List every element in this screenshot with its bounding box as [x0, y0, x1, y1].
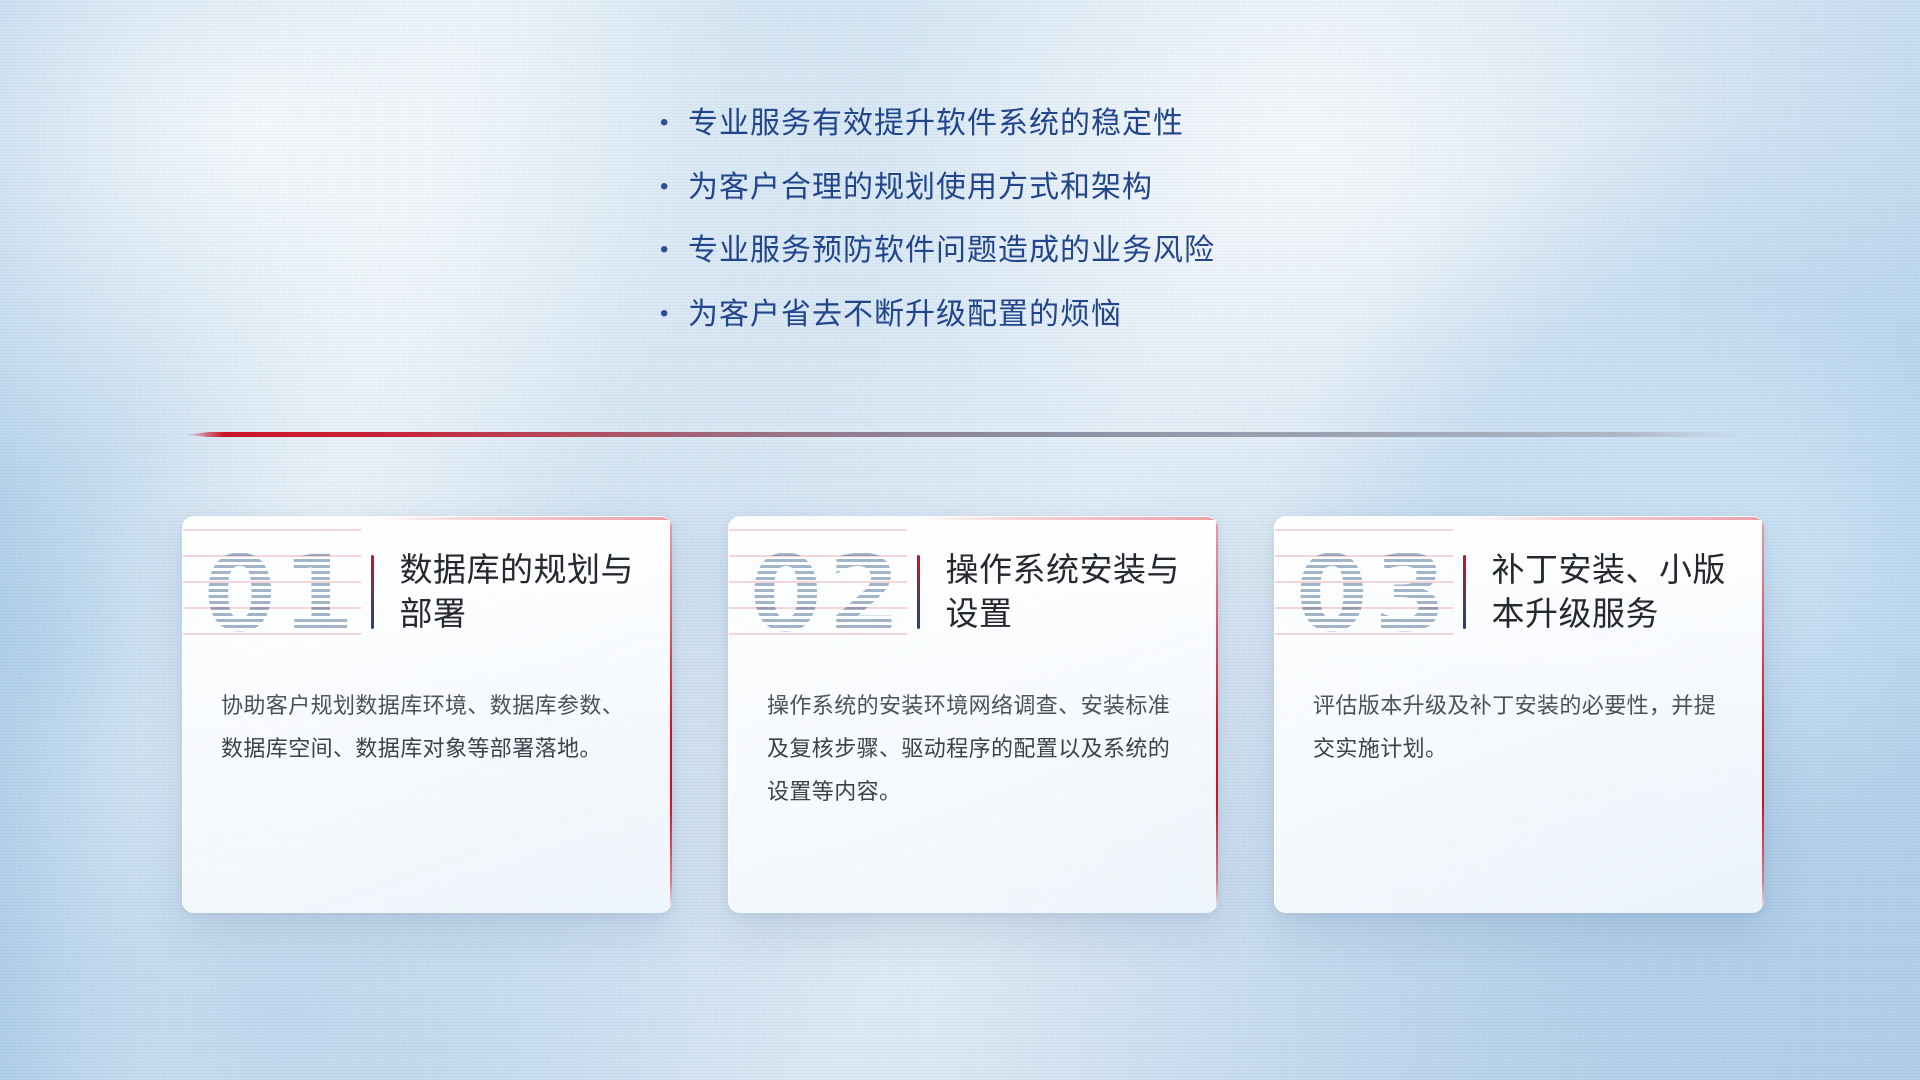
service-card[interactable]: 01 数据库的规划与部署 协助客户规划数据库环境、数据库参数、数据库空间、数据库… [182, 516, 672, 913]
card-body-text: 协助客户规划数据库环境、数据库参数、数据库空间、数据库对象等部署落地。 [183, 667, 672, 771]
divider-sheen [185, 428, 1741, 442]
service-card-group: 01 数据库的规划与部署 协助客户规划数据库环境、数据库参数、数据库空间、数据库… [182, 516, 1764, 913]
bullet-marker-icon: • [660, 111, 688, 135]
card-divider-bar [371, 555, 374, 629]
bullet-item: • 为客户合理的规划使用方式和架构 [660, 169, 1215, 207]
card-title: 操作系统安装与设置 [946, 548, 1219, 635]
card-title: 数据库的规划与部署 [400, 548, 673, 635]
bullet-item-text: 为客户省去不断升级配置的烦恼 [688, 296, 1122, 334]
section-divider [185, 428, 1741, 444]
slide-root: • 专业服务有效提升软件系统的稳定性 • 为客户合理的规划使用方式和架构 • 专… [0, 0, 1920, 1080]
bullet-item-text: 专业服务预防软件问题造成的业务风险 [688, 232, 1215, 270]
card-body-text: 评估版本升级及补丁安装的必要性，并提交实施计划。 [1275, 667, 1764, 771]
card-step-number: 01 [193, 542, 371, 646]
card-step-number: 02 [739, 542, 917, 646]
bullet-item-text: 专业服务有效提升软件系统的稳定性 [688, 105, 1184, 143]
card-divider-bar [1463, 555, 1466, 629]
card-header: 03 补丁安装、小版本升级服务 [1275, 517, 1764, 667]
card-title: 补丁安装、小版本升级服务 [1492, 548, 1765, 635]
card-body-text: 操作系统的安装环境网络调查、安装标准及复核步骤、驱动程序的配置以及系统的设置等内… [729, 667, 1218, 814]
bullet-marker-icon: • [660, 238, 688, 262]
bullet-marker-icon: • [660, 302, 688, 326]
bullet-item-text: 为客户合理的规划使用方式和架构 [688, 169, 1153, 207]
benefits-bullet-list: • 专业服务有效提升软件系统的稳定性 • 为客户合理的规划使用方式和架构 • 专… [660, 105, 1215, 359]
service-card[interactable]: 03 补丁安装、小版本升级服务 评估版本升级及补丁安装的必要性，并提交实施计划。 [1274, 516, 1764, 913]
bullet-item: • 专业服务预防软件问题造成的业务风险 [660, 232, 1215, 270]
card-divider-bar [917, 555, 920, 629]
bullet-marker-icon: • [660, 175, 688, 199]
bullet-item: • 为客户省去不断升级配置的烦恼 [660, 296, 1215, 334]
card-header: 02 操作系统安装与设置 [729, 517, 1218, 667]
bullet-item: • 专业服务有效提升软件系统的稳定性 [660, 105, 1215, 143]
card-header: 01 数据库的规划与部署 [183, 517, 672, 667]
service-card[interactable]: 02 操作系统安装与设置 操作系统的安装环境网络调查、安装标准及复核步骤、驱动程… [728, 516, 1218, 913]
card-step-number: 03 [1285, 542, 1463, 646]
